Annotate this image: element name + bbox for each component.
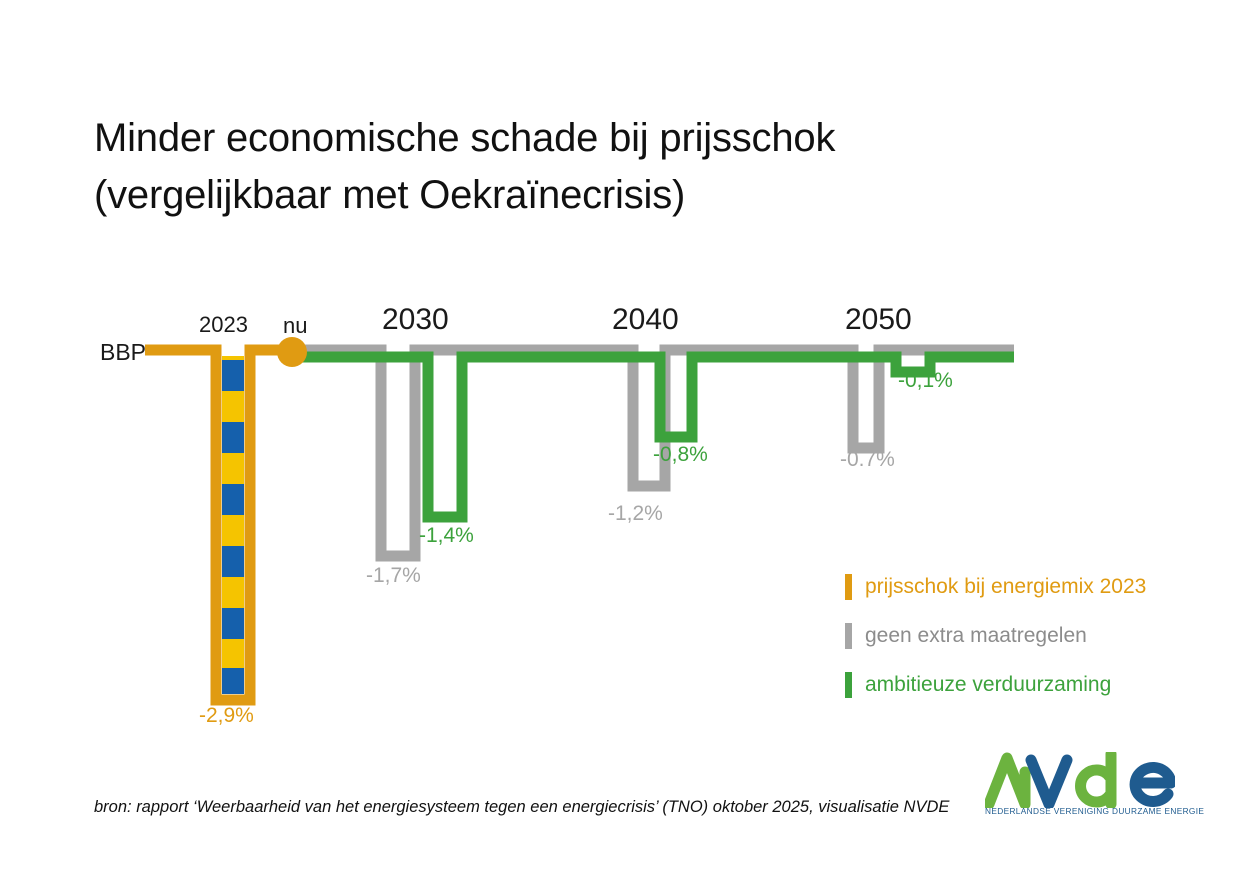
legend-label-prijsschok: prijsschok bij energiemix 2023	[865, 575, 1146, 599]
source-note: bron: rapport ‘Weerbaarheid van het ener…	[94, 798, 949, 817]
value-label-2050-green: -0,1%	[898, 369, 953, 393]
legend-item-geen-maatregelen[interactable]: geen extra maatregelen	[845, 611, 1185, 660]
legend-item-prijsschok[interactable]: prijsschok bij energiemix 2023	[845, 562, 1185, 611]
value-label-2030-green: -1,4%	[419, 524, 474, 548]
series-prijsschok-energiemix-2023	[145, 350, 292, 700]
legend-item-verduurzaming[interactable]: ambitieuze verduurzaming	[845, 660, 1185, 709]
legend-swatch-orange-icon	[845, 574, 852, 600]
legend-swatch-green-icon	[845, 672, 852, 698]
axis-tick-2040: 2040	[612, 303, 679, 337]
legend-swatch-gray-icon	[845, 623, 852, 649]
nvde-wordmark-icon	[985, 752, 1175, 808]
ukraine-flag-fill	[222, 356, 244, 694]
axis-tick-2030: 2030	[382, 303, 449, 337]
legend-label-verduurzaming: ambitieuze verduurzaming	[865, 673, 1111, 697]
chart-canvas	[0, 0, 1240, 874]
orange-path	[145, 350, 292, 700]
baseline-label: BBP	[100, 339, 146, 366]
bbp-shock-chart	[0, 0, 1240, 874]
value-label-2040-green: -0,8%	[653, 443, 708, 467]
chart-legend: prijsschok bij energiemix 2023 geen extr…	[845, 562, 1185, 709]
axis-tick-nu: nu	[283, 313, 307, 339]
nu-marker-dot	[277, 337, 307, 367]
value-label-2023: -2,9%	[199, 704, 254, 728]
nvde-tagline: NEDERLANDSE VERENIGING DUURZAME ENERGIE	[985, 806, 1175, 816]
axis-tick-2023: 2023	[199, 312, 248, 338]
nvde-logo: NEDERLANDSE VERENIGING DUURZAME ENERGIE	[985, 752, 1175, 824]
value-label-2040-gray: -1,2%	[608, 502, 663, 526]
axis-tick-2050: 2050	[845, 303, 912, 337]
value-label-2030-gray: -1,7%	[366, 564, 421, 588]
value-label-2050-gray: -0.7%	[840, 448, 895, 472]
legend-label-geen-maatregelen: geen extra maatregelen	[865, 624, 1087, 648]
